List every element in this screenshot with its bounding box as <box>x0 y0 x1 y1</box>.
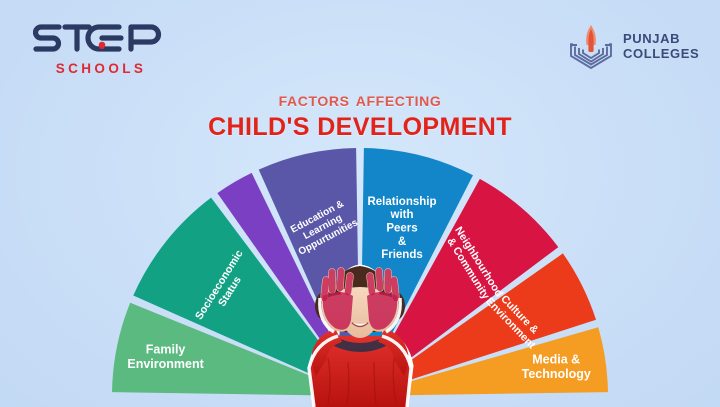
poster-canvas: SCHOOLS <box>0 0 720 407</box>
child-photo <box>262 246 458 407</box>
